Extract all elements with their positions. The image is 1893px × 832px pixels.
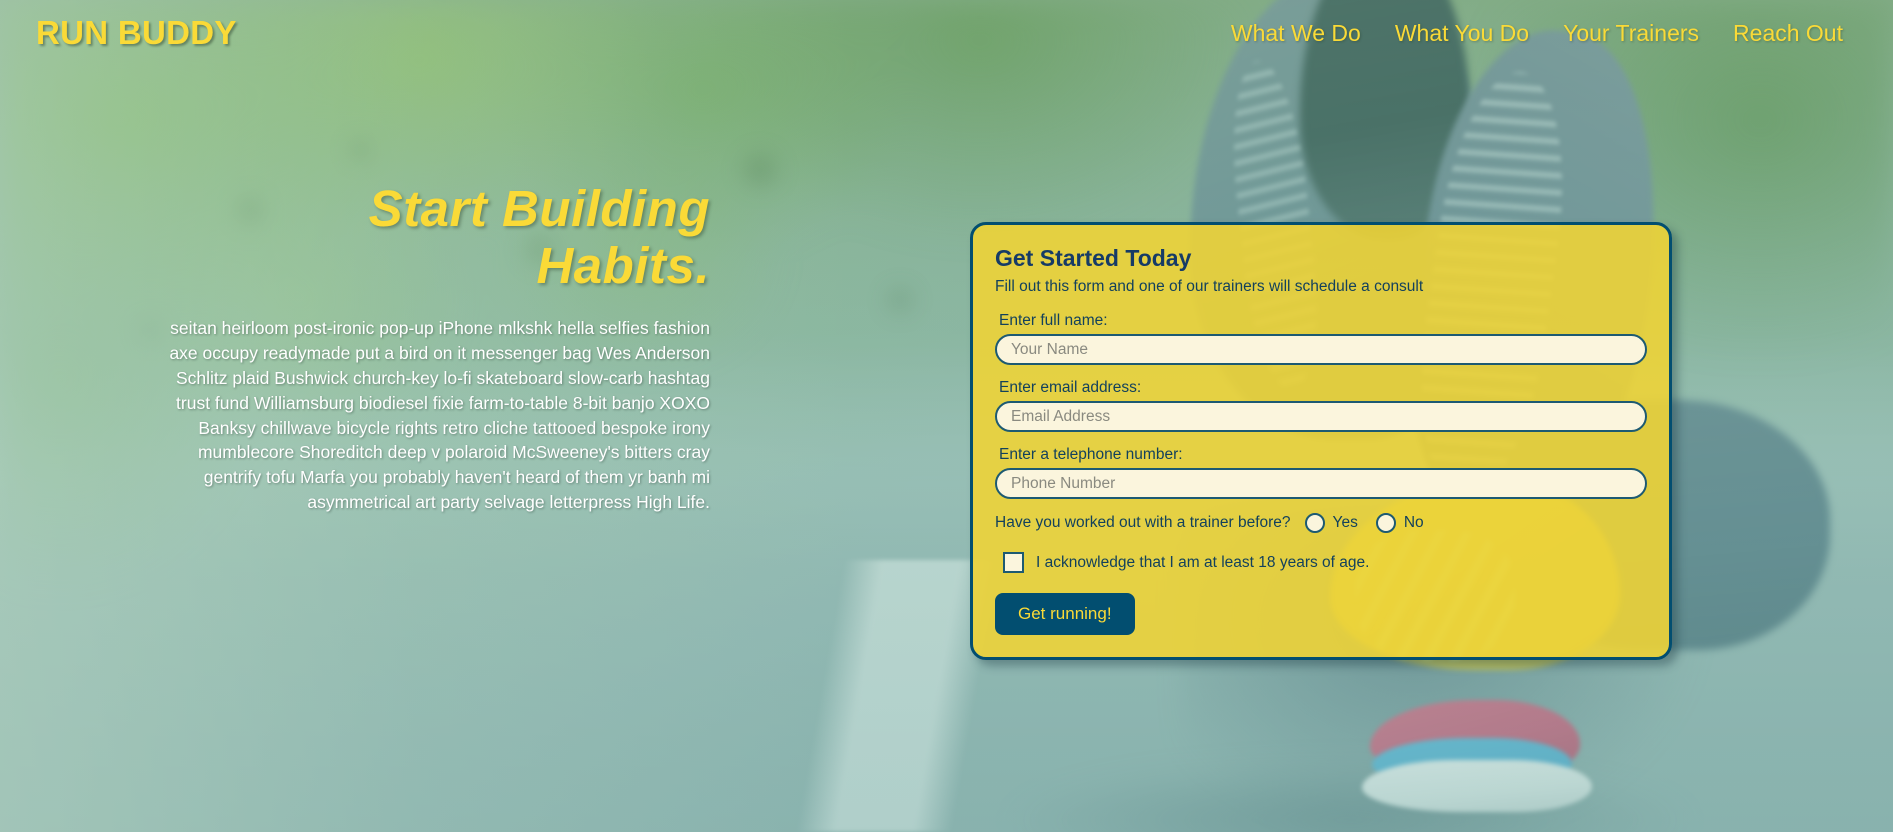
hero-headline: Start Building Habits.: [150, 180, 710, 294]
trainer-experience-row: Have you worked out with a trainer befor…: [995, 513, 1647, 533]
nav-link-what-you-do[interactable]: What You Do: [1395, 20, 1529, 47]
telephone-label: Enter a telephone number:: [999, 446, 1647, 464]
email-input[interactable]: [995, 401, 1647, 432]
main-navigation: What We Do What You Do Your Trainers Rea…: [1231, 20, 1857, 47]
site-logo[interactable]: RUN BUDDY: [36, 14, 237, 52]
age-acknowledgement-label: I acknowledge that I am at least 18 year…: [1036, 554, 1369, 572]
radio-yes[interactable]: [1305, 513, 1325, 533]
hero-copy: Start Building Habits. seitan heirloom p…: [150, 180, 710, 515]
radio-no-label: No: [1404, 514, 1424, 532]
nav-link-your-trainers[interactable]: Your Trainers: [1563, 20, 1699, 47]
hero-section: RUN BUDDY What We Do What You Do Your Tr…: [0, 0, 1893, 832]
radio-no[interactable]: [1376, 513, 1396, 533]
age-acknowledgement-row: I acknowledge that I am at least 18 year…: [1003, 552, 1647, 573]
hero-headline-line-1: Start Building: [150, 180, 710, 237]
email-label: Enter email address:: [999, 379, 1647, 397]
age-acknowledgement-checkbox[interactable]: [1003, 552, 1024, 573]
trainer-experience-question: Have you worked out with a trainer befor…: [995, 514, 1291, 532]
nav-link-reach-out[interactable]: Reach Out: [1733, 20, 1843, 47]
telephone-input[interactable]: [995, 468, 1647, 499]
hero-headline-line-2: Habits.: [150, 237, 710, 294]
radio-yes-label: Yes: [1333, 514, 1358, 532]
signup-form-panel: Get Started Today Fill out this form and…: [970, 222, 1672, 660]
full-name-label: Enter full name:: [999, 312, 1647, 330]
form-subtitle: Fill out this form and one of our traine…: [995, 278, 1647, 296]
form-title: Get Started Today: [995, 245, 1647, 272]
submit-button[interactable]: Get running!: [995, 593, 1135, 635]
site-header: RUN BUDDY What We Do What You Do Your Tr…: [0, 0, 1893, 52]
full-name-input[interactable]: [995, 334, 1647, 365]
nav-link-what-we-do[interactable]: What We Do: [1231, 20, 1361, 47]
hero-paragraph: seitan heirloom post-ironic pop-up iPhon…: [150, 316, 710, 515]
